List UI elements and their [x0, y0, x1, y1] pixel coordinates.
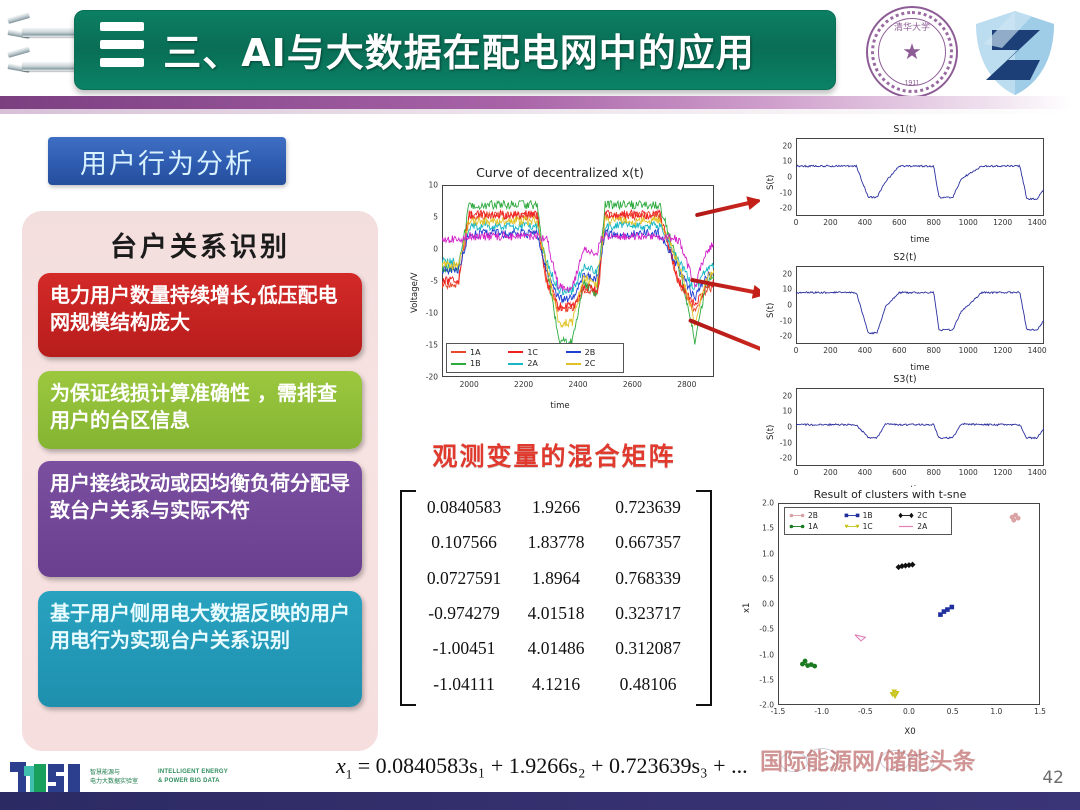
tsne-legend-label-1C: 1C	[863, 522, 873, 531]
matrix-row: 0.07275911.89640.768339	[418, 561, 694, 596]
ytick-tsne-1: 1.0	[752, 549, 774, 558]
matrix-cell-5-1: 4.1216	[510, 674, 602, 695]
legend-label-1A: 1A	[470, 348, 481, 357]
cluster-2B	[1010, 513, 1021, 523]
legend-swatch-2B	[566, 351, 581, 353]
xtick-tsne-0.5: 0.5	[947, 707, 959, 716]
matrix-cell-2-2: 0.768339	[602, 568, 694, 589]
cluster-2C	[896, 562, 916, 571]
legend-swatch-2A	[508, 363, 523, 365]
legend-swatch-1C	[508, 351, 523, 353]
ytick-s1-20: 20	[774, 141, 792, 150]
topic-panel: 台户关系识别 电力用户数量持续增长,低压配电网规模结构庞大 为保证线损计算准确性…	[22, 211, 378, 751]
chart-legend-tsne[interactable]: 2B1B2C1A1C2A	[784, 507, 952, 535]
matrix-row: 0.08405831.92660.723639	[418, 490, 694, 525]
tsne-legend-item-2A[interactable]: 2A	[898, 521, 947, 532]
ytick--20: -20	[418, 373, 438, 382]
tsne-legend-swatch-2C	[898, 512, 914, 519]
xtick-s1-1400: 1400	[1028, 218, 1047, 227]
xtick-s2-200: 200	[823, 346, 837, 355]
ytick-s1-10: 10	[774, 157, 792, 166]
tsne-legend-label-2B: 2B	[808, 511, 818, 520]
tsinghua-logo-year: 1911	[866, 80, 958, 87]
chart-xlabel-s2: time	[790, 363, 1050, 373]
chart-ylabel-s3: S(t)	[766, 425, 776, 440]
tsne-legend-item-2B[interactable]: 2B	[789, 510, 838, 521]
ytick-tsne--0.5: -0.5	[752, 625, 774, 634]
ytick-10: 10	[418, 181, 438, 190]
chart-title-s3: S3(t)	[760, 374, 1050, 385]
chart-s1: S1(t) 020040060080010001200140020100-10-…	[760, 124, 1050, 246]
matrix-row: 0.1075661.837780.667357	[418, 525, 694, 560]
equation-subscript: 1	[346, 766, 353, 781]
legend-swatch-2C	[566, 363, 581, 365]
xtick-s3-1400: 1400	[1028, 468, 1047, 477]
tsne-legend-swatch-1C	[844, 523, 860, 530]
tsne-legend-label-2C: 2C	[917, 511, 927, 520]
ytick--15: -15	[418, 341, 438, 350]
star-icon: ★	[902, 41, 922, 63]
matrix-cell-3-1: 4.01518	[510, 603, 602, 624]
xtick-s2-0: 0	[794, 346, 799, 355]
legend-swatch-1B	[451, 363, 466, 365]
tsne-legend-label-1B: 1B	[863, 511, 873, 520]
matrix-cell-1-1: 1.83778	[510, 532, 602, 553]
matrix-cell-0-1: 1.9266	[510, 497, 602, 518]
slide-root: 三、AI与大数据在配电网中的应用 清华大学 ★ 1911 用户行为分析 台户关系…	[0, 0, 1080, 810]
matrix-row: -1.041114.12160.48106	[418, 667, 694, 702]
ytick-s1-0: 0	[774, 173, 792, 182]
matrix-cell-2-0: 0.0727591	[418, 568, 510, 589]
ytick-tsne-2: 2.0	[752, 499, 774, 508]
xtick-2000: 2000	[460, 380, 479, 389]
ytick-tsne-0.5: 0.5	[752, 574, 774, 583]
matrix-bracket-left	[400, 490, 416, 706]
bullet-mismatch: 用户接线改动或因均衡负荷分配导致台户关系与实际不符	[38, 461, 362, 577]
bullet-bigdata: 基于用户侧用电大数据反映的用户用电行为实现台户关系识别	[38, 591, 362, 707]
legend-label-2C: 2C	[585, 359, 596, 368]
legend-label-2A: 2A	[527, 359, 538, 368]
chart-xlabel-tsne: X0	[770, 727, 1050, 737]
legend-item-1B[interactable]: 1B	[451, 359, 504, 370]
tsne-legend-label-1A: 1A	[808, 522, 818, 531]
xtick-s1-600: 600	[892, 218, 906, 227]
xtick-s3-600: 600	[892, 468, 906, 477]
ytick-s2-10: 10	[774, 285, 792, 294]
header-purple-band-secondary	[0, 109, 1072, 114]
cluster-1C	[890, 689, 900, 699]
lab-logo-cn-1: 智慧能源与	[90, 768, 138, 777]
ytick-s1--20: -20	[774, 204, 792, 213]
ytick-s3-10: 10	[774, 407, 792, 416]
xtick-s1-800: 800	[927, 218, 941, 227]
lab-logo-en-2: & POWER BIG DATA	[158, 777, 278, 786]
chart-ylabel-decentralized: Voltage/V	[410, 272, 420, 313]
chart-ylabel-s1: S(t)	[766, 175, 776, 190]
matrix-bracket-right	[696, 490, 712, 706]
lab-logo-cn-2: 电力大数据实验室	[90, 777, 138, 786]
xtick-s3-1000: 1000	[959, 468, 978, 477]
chart-s3: S3(t) 020040060080010001200140020100-10-…	[760, 374, 1050, 496]
ytick-s2-0: 0	[774, 301, 792, 310]
xtick-s1-200: 200	[823, 218, 837, 227]
tsne-legend-item-1C[interactable]: 1C	[844, 521, 893, 532]
matrix-caption: 观测变量的混合矩阵	[404, 437, 704, 473]
xtick-2600: 2600	[623, 380, 642, 389]
ytick--5: -5	[418, 277, 438, 286]
bullet-line-loss: 为保证线损计算准确性 ，需排查用户的台区信息	[38, 371, 362, 449]
ytick-s3-20: 20	[774, 391, 792, 400]
mixing-matrix: 0.08405831.92660.7236390.1075661.837780.…	[400, 490, 712, 702]
xtick-s1-1200: 1200	[993, 218, 1012, 227]
matrix-cell-4-0: -1.00451	[418, 638, 510, 659]
xtick-s2-1200: 1200	[993, 346, 1012, 355]
xtick-s2-400: 400	[858, 346, 872, 355]
tsinghua-university-logo: 清华大学 ★ 1911	[866, 6, 958, 98]
ytick-s3--10: -10	[774, 438, 792, 447]
xtick-tsne-1.5: 1.5	[1034, 707, 1046, 716]
tsne-legend-swatch-1B	[844, 512, 860, 519]
xtick-tsne--0.5: -0.5	[858, 707, 873, 716]
chart-tsne-clusters: Result of clusters with t-sne -1.5-1.0-0…	[730, 487, 1050, 739]
equation-x1: x1 = 0.0840583s₁ + 1.9266s₂ + 0.723639s₃…	[336, 753, 748, 782]
xtick-2800: 2800	[677, 380, 696, 389]
xtick-s2-1000: 1000	[959, 346, 978, 355]
series-s2	[796, 292, 1044, 334]
chart-legend-decentralized[interactable]: 1A1C2B1B2A2C	[446, 343, 624, 373]
chart-xlabel-decentralized: time	[400, 401, 720, 411]
series-s1	[796, 165, 1044, 199]
matrix-cell-5-0: -1.04111	[418, 674, 510, 695]
tsne-legend-item-2C[interactable]: 2C	[898, 510, 947, 521]
xtick-s1-400: 400	[858, 218, 872, 227]
tsne-legend-item-1B[interactable]: 1B	[844, 510, 893, 521]
ytick-tsne-1.5: 1.5	[752, 524, 774, 533]
ytick-tsne--2: -2.0	[752, 701, 774, 710]
xtick-s2-600: 600	[892, 346, 906, 355]
cluster-1B	[938, 605, 954, 617]
xtick-s1-0: 0	[794, 218, 799, 227]
tsne-legend-item-1A[interactable]: 1A	[789, 521, 838, 532]
section-title: 用户行为分析	[48, 137, 286, 185]
matrix-cell-0-2: 0.723639	[602, 497, 694, 518]
xtick-2200: 2200	[514, 380, 533, 389]
xtick-2400: 2400	[568, 380, 587, 389]
legend-label-2B: 2B	[585, 348, 596, 357]
xtick-s2-1400: 1400	[1028, 346, 1047, 355]
ytick-s2--20: -20	[774, 332, 792, 341]
matrix-cell-4-1: 4.01486	[510, 638, 602, 659]
ytick-s3-0: 0	[774, 423, 792, 432]
ytick--10: -10	[418, 309, 438, 318]
matrix-cell-1-2: 0.667357	[602, 532, 694, 553]
ytick-5: 5	[418, 213, 438, 222]
xtick-s3-400: 400	[858, 468, 872, 477]
page-title: 三、AI与大数据在配电网中的应用	[88, 16, 830, 82]
chart-xlabel-s1: time	[790, 235, 1050, 245]
page-number: 42	[1042, 768, 1064, 788]
ytick-s2-20: 20	[774, 269, 792, 278]
xtick-s3-800: 800	[927, 468, 941, 477]
cluster-2A	[855, 635, 865, 641]
cluster-1A	[800, 659, 817, 669]
ytick-s3--20: -20	[774, 454, 792, 463]
bullet-growth: 电力用户数量持续增长,低压配电网规模结构庞大	[38, 273, 362, 357]
ytick-tsne--1: -1.0	[752, 650, 774, 659]
matrix-row: -1.004514.014860.312087	[418, 631, 694, 666]
lab-logo-en: INTELLIGENT ENERGY & POWER BIG DATA	[158, 768, 278, 786]
chart-title-s1: S1(t)	[760, 124, 1050, 135]
ytick-s2--10: -10	[774, 316, 792, 325]
xtick-tsne-1: 1.0	[990, 707, 1002, 716]
equation-body: = 0.0840583s₁ + 1.9266s₂ + 0.723639s₃ + …	[358, 753, 748, 778]
tsne-legend-swatch-2B	[789, 512, 805, 519]
xtick-tsne--1: -1.0	[814, 707, 829, 716]
chart-title-decentralized: Curve of decentralized x(t)	[400, 165, 720, 180]
ytick-tsne-0: 0.0	[752, 600, 774, 609]
series-s3	[796, 423, 1044, 438]
matrix-cell-4-2: 0.312087	[602, 638, 694, 659]
panel-heading: 台户关系识别	[22, 225, 378, 264]
legend-item-2A[interactable]: 2A	[508, 359, 561, 370]
watermark-text: 国际能源网/储能头条	[760, 742, 1070, 786]
chart-s2: S2(t) 020040060080010001200140020100-10-…	[760, 252, 1050, 374]
ytick-0: 0	[418, 245, 438, 254]
chart-title-tsne: Result of clusters with t-sne	[730, 488, 1050, 501]
xtick-tsne-0: 0.0	[903, 707, 915, 716]
matrix-cell-0-0: 0.0840583	[418, 497, 510, 518]
legend-item-2B[interactable]: 2B	[566, 347, 619, 358]
matrix-cell-3-2: 0.323717	[602, 603, 694, 624]
blue-shield-logo	[972, 8, 1058, 98]
matrix-row: -0.9742794.015180.323717	[418, 596, 694, 631]
xtick-s2-800: 800	[927, 346, 941, 355]
xtick-s3-200: 200	[823, 468, 837, 477]
chart-ylabel-s2: S(t)	[766, 303, 776, 318]
legend-label-1B: 1B	[470, 359, 481, 368]
chart-title-s2: S2(t)	[760, 252, 1050, 263]
legend-item-1A[interactable]: 1A	[451, 347, 504, 358]
xtick-s3-1200: 1200	[993, 468, 1012, 477]
legend-item-1C[interactable]: 1C	[508, 347, 561, 358]
lab-logo-text: 智慧能源与 电力大数据实验室	[90, 768, 138, 786]
legend-swatch-1A	[451, 351, 466, 353]
matrix-cell-3-0: -0.974279	[418, 603, 510, 624]
xtick-s1-1000: 1000	[959, 218, 978, 227]
matrix-cell-5-2: 0.48106	[602, 674, 694, 695]
tsne-legend-swatch-1A	[789, 523, 805, 530]
footer-band	[0, 792, 1080, 810]
tsinghua-logo-cn: 清华大学	[866, 20, 958, 33]
lab-logo-en-1: INTELLIGENT ENERGY	[158, 768, 278, 777]
tsne-legend-swatch-2A	[898, 523, 914, 530]
chart-ylabel-tsne: x1	[742, 603, 752, 613]
legend-label-1C: 1C	[527, 348, 538, 357]
matrix-cell-1-0: 0.107566	[418, 532, 510, 553]
xtick-s3-0: 0	[794, 468, 799, 477]
ytick-tsne--1.5: -1.5	[752, 675, 774, 684]
legend-item-2C[interactable]: 2C	[566, 359, 619, 370]
tsne-legend-label-2A: 2A	[917, 522, 927, 531]
chart-decentralized-xt: Curve of decentralized x(t) 200022002400…	[400, 163, 720, 413]
ytick-s1--10: -10	[774, 188, 792, 197]
header-purple-band	[0, 96, 1072, 109]
matrix-cell-2-1: 1.8964	[510, 568, 602, 589]
